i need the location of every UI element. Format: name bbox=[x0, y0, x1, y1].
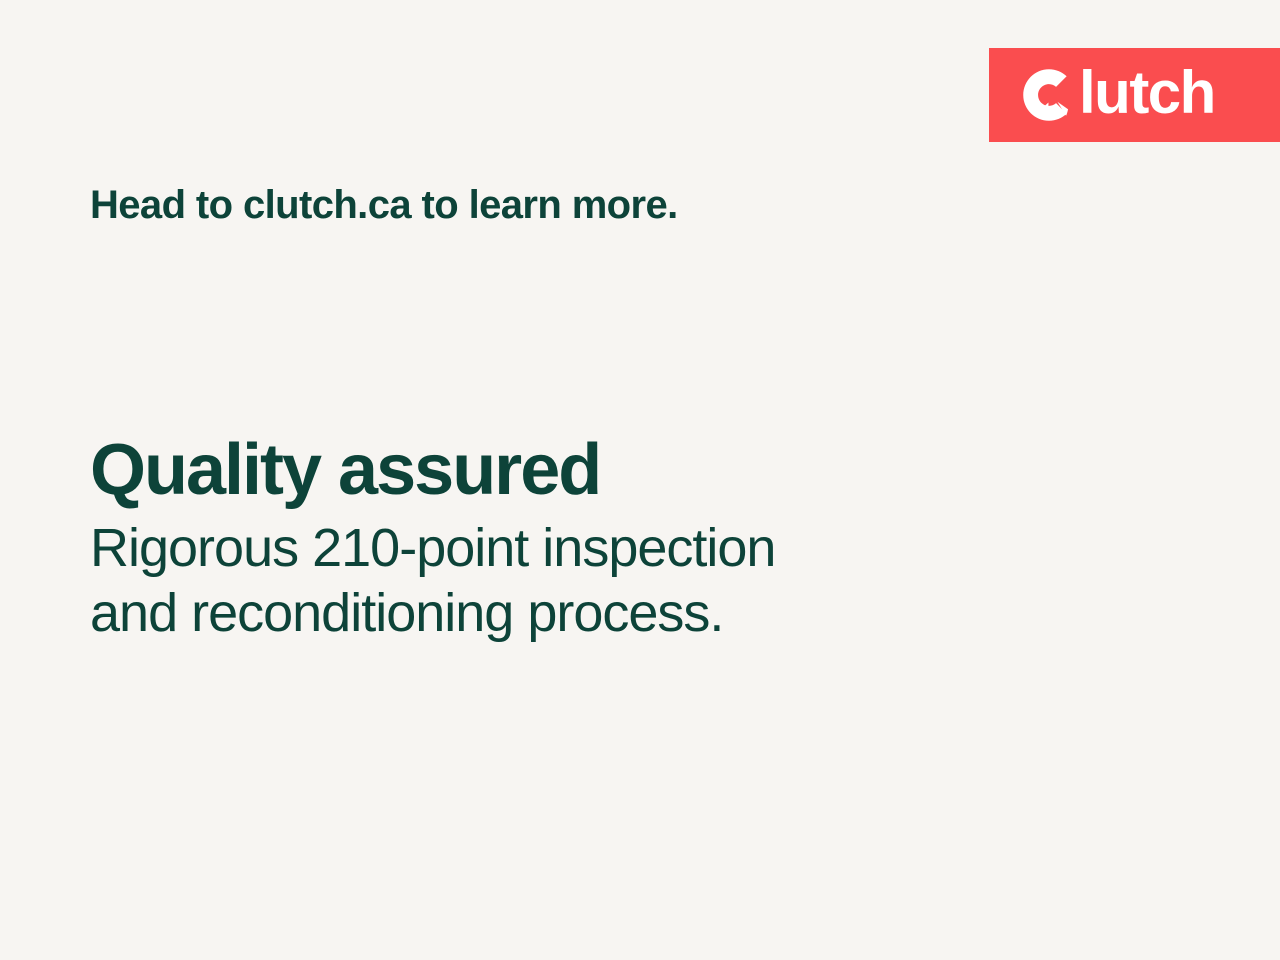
cta-eyebrow-text: Head to clutch.ca to learn more. bbox=[90, 182, 678, 229]
subheadline-line-1: Rigorous 210-point inspection bbox=[90, 516, 990, 581]
promo-slide: lutch Head to clutch.ca to learn more. Q… bbox=[0, 0, 1280, 960]
subheadline: Rigorous 210-point inspection and recond… bbox=[90, 516, 990, 646]
clutch-logo-badge[interactable]: lutch bbox=[989, 48, 1280, 142]
page-title: Quality assured bbox=[90, 432, 990, 510]
message-block: Quality assured Rigorous 210-point inspe… bbox=[90, 432, 990, 645]
clutch-wordmark: lutch bbox=[1079, 63, 1215, 123]
subheadline-line-2: and reconditioning process. bbox=[90, 581, 990, 646]
clutch-c-mark-icon bbox=[1021, 67, 1077, 123]
clutch-logo-lockup: lutch bbox=[1021, 65, 1215, 125]
